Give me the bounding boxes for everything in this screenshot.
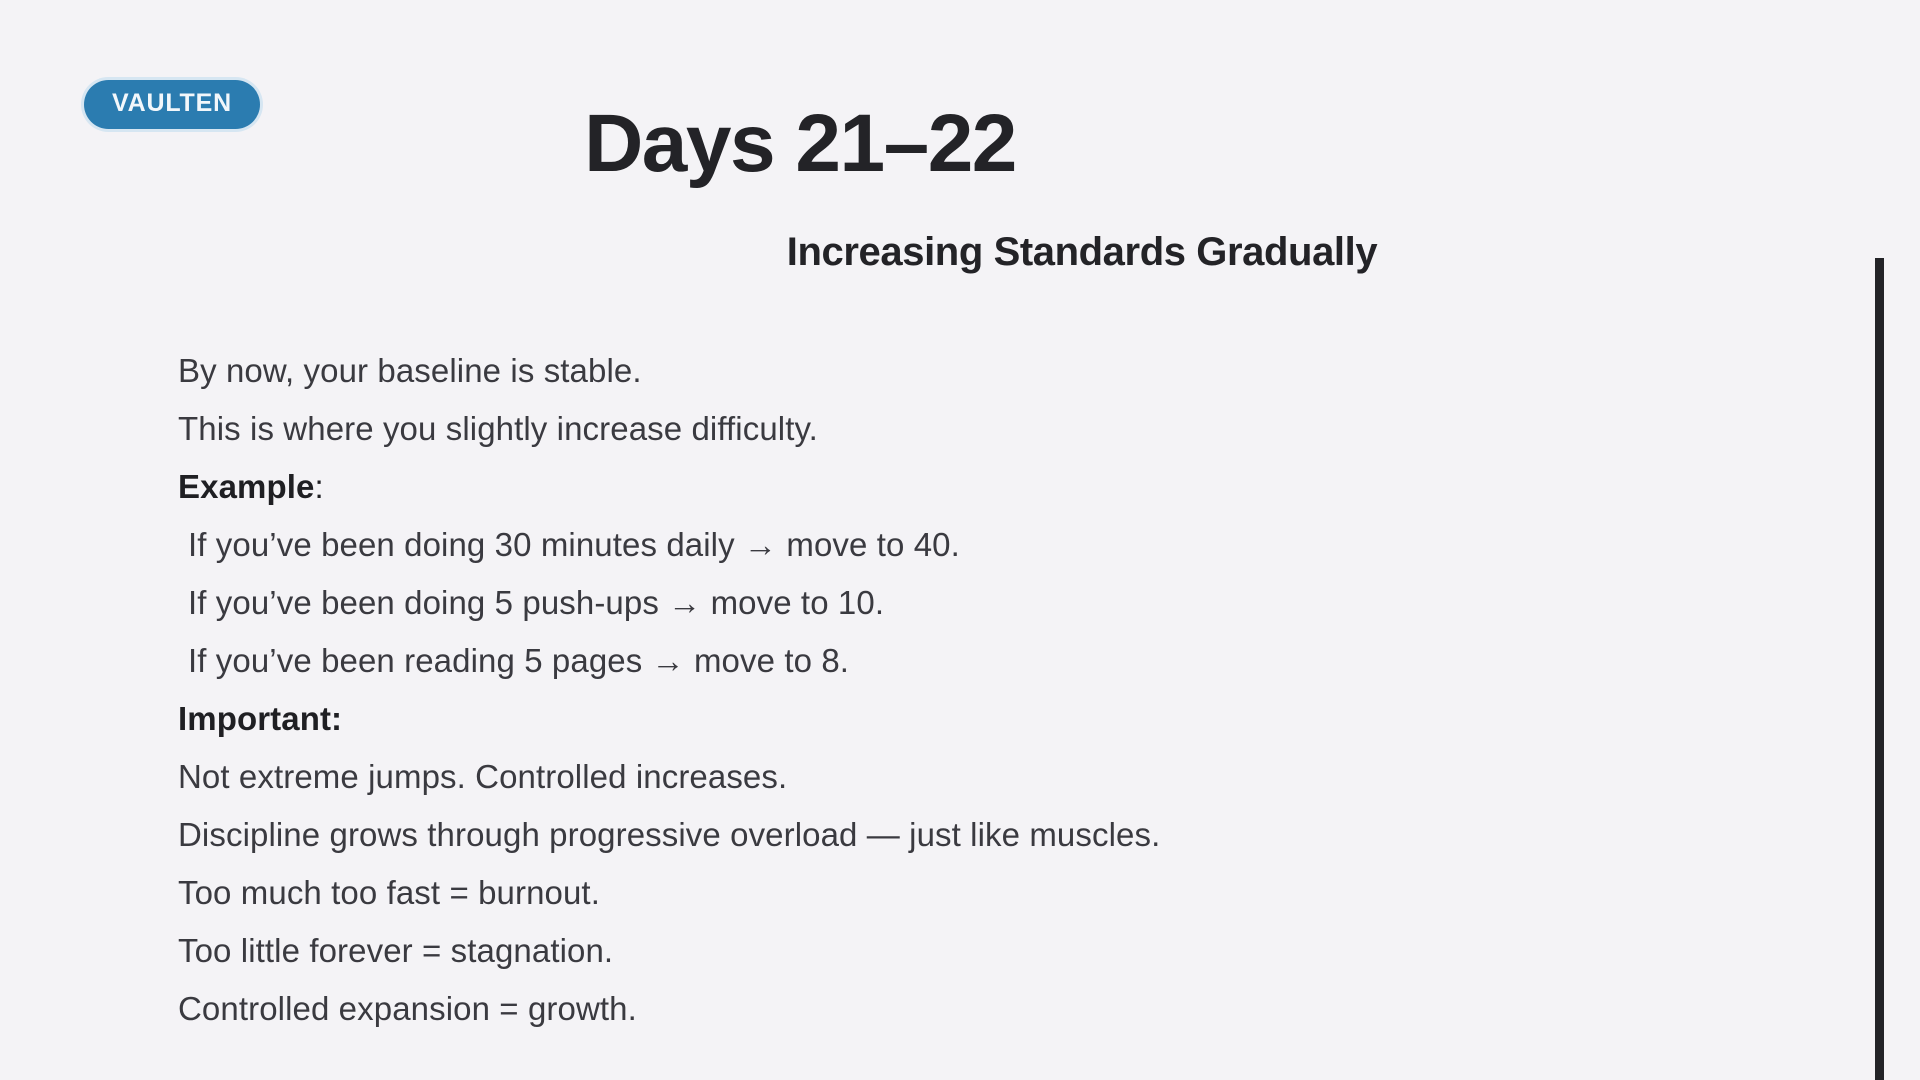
body-line-example-item: If you’ve been reading 5 pages → move to… [178, 632, 1778, 690]
body-line: Too little forever = stagnation. [178, 922, 1778, 980]
body-line: Not extreme jumps. Controlled increases. [178, 748, 1778, 806]
body-line-example-item: If you’ve been doing 5 push-ups → move t… [178, 574, 1778, 632]
body-content: By now, your baseline is stable. This is… [178, 342, 1778, 1038]
body-line: Controlled expansion = growth. [178, 980, 1778, 1038]
example-colon: : [314, 468, 323, 505]
example-label: Example [178, 468, 314, 505]
body-line-example-label: Example: [178, 458, 1778, 516]
body-line: This is where you slightly increase diff… [178, 400, 1778, 458]
body-line-example-item: If you’ve been doing 30 minutes daily → … [178, 516, 1778, 574]
body-line-important-label: Important: [178, 690, 1778, 748]
page-subtitle: Increasing Standards Gradually [122, 230, 1920, 274]
page-title: Days 21–22 [0, 100, 1760, 189]
body-line: Discipline grows through progressive ove… [178, 806, 1778, 864]
body-line: By now, your baseline is stable. [178, 342, 1778, 400]
scrollbar-thumb[interactable] [1875, 258, 1884, 1080]
body-line: Too much too fast = burnout. [178, 864, 1778, 922]
slide-canvas: VAULTEN Days 21–22 Increasing Standards … [0, 0, 1920, 1080]
